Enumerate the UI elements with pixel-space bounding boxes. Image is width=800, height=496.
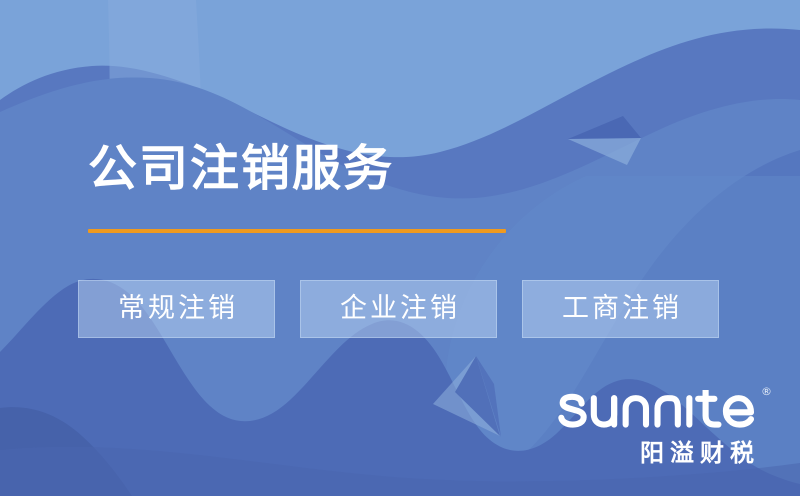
logo-chinese-name: 阳溢财税 — [555, 438, 760, 468]
button-business-deregistration-label: 工商注销 — [559, 294, 682, 324]
page-title: 公司注销服务 — [88, 138, 728, 200]
registered-trademark-icon: ® — [761, 386, 772, 397]
banner-content: 公司注销服务 常规注销 企业注销 工商注销 — [0, 0, 800, 496]
service-button-row: 常规注销 企业注销 工商注销 — [78, 280, 719, 338]
title-divider — [88, 229, 506, 233]
title-block: 公司注销服务 — [88, 138, 728, 200]
button-general-deregistration[interactable]: 常规注销 — [78, 280, 275, 338]
button-enterprise-deregistration-label: 企业注销 — [337, 294, 460, 324]
sunnite-wordmark-icon — [555, 390, 760, 432]
button-general-deregistration-label: 常规注销 — [115, 294, 238, 324]
button-business-deregistration[interactable]: 工商注销 — [522, 280, 719, 338]
brand-logo[interactable]: ® 阳溢财税 — [555, 390, 760, 468]
button-enterprise-deregistration[interactable]: 企业注销 — [300, 280, 497, 338]
logo-wordmark-wrap: ® — [555, 390, 760, 432]
promotional-banner: 公司注销服务 常规注销 企业注销 工商注销 — [0, 0, 800, 496]
